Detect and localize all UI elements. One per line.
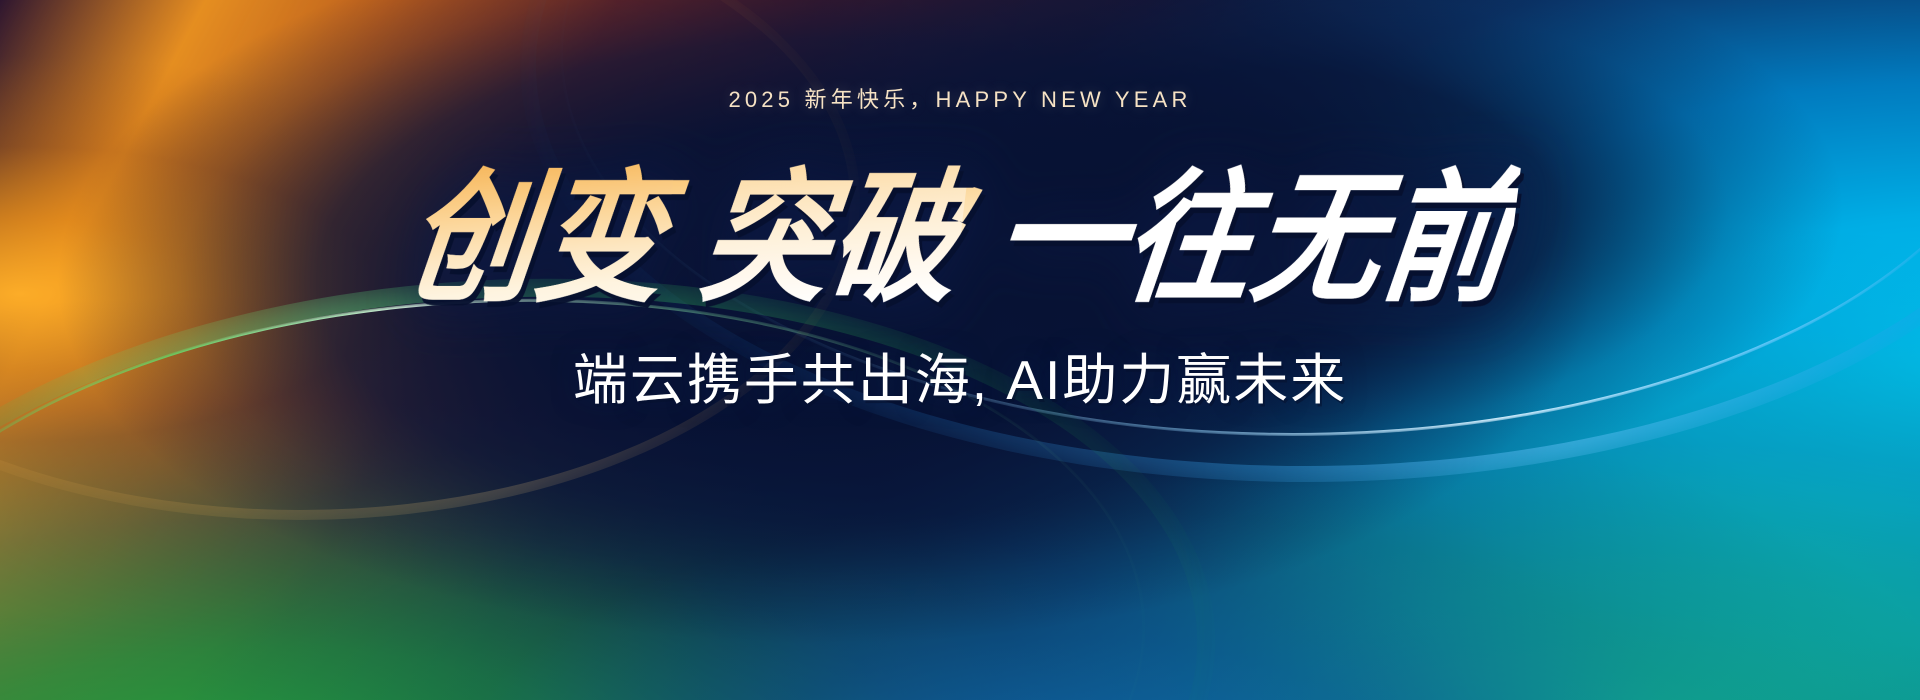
- tagline-text: 2025 新年快乐，HAPPY NEW YEAR: [728, 82, 1191, 114]
- headline-text: 创变突破一往无前: [399, 168, 1521, 311]
- headline-segment-tupo: 突破: [692, 159, 970, 319]
- subtitle-text: 端云携手共出海, AI助力赢未来: [573, 350, 1348, 411]
- banner-content: 2025 新年快乐，HAPPY NEW YEAR 创变突破一往无前 端云携手共出…: [0, 0, 1920, 700]
- headline-segment-yiwangwuqian: 一往无前: [986, 159, 1522, 319]
- headline-segment-chuangbian: 创变: [398, 159, 676, 319]
- new-year-banner: 2025 新年快乐，HAPPY NEW YEAR 创变突破一往无前 端云携手共出…: [0, 0, 1920, 700]
